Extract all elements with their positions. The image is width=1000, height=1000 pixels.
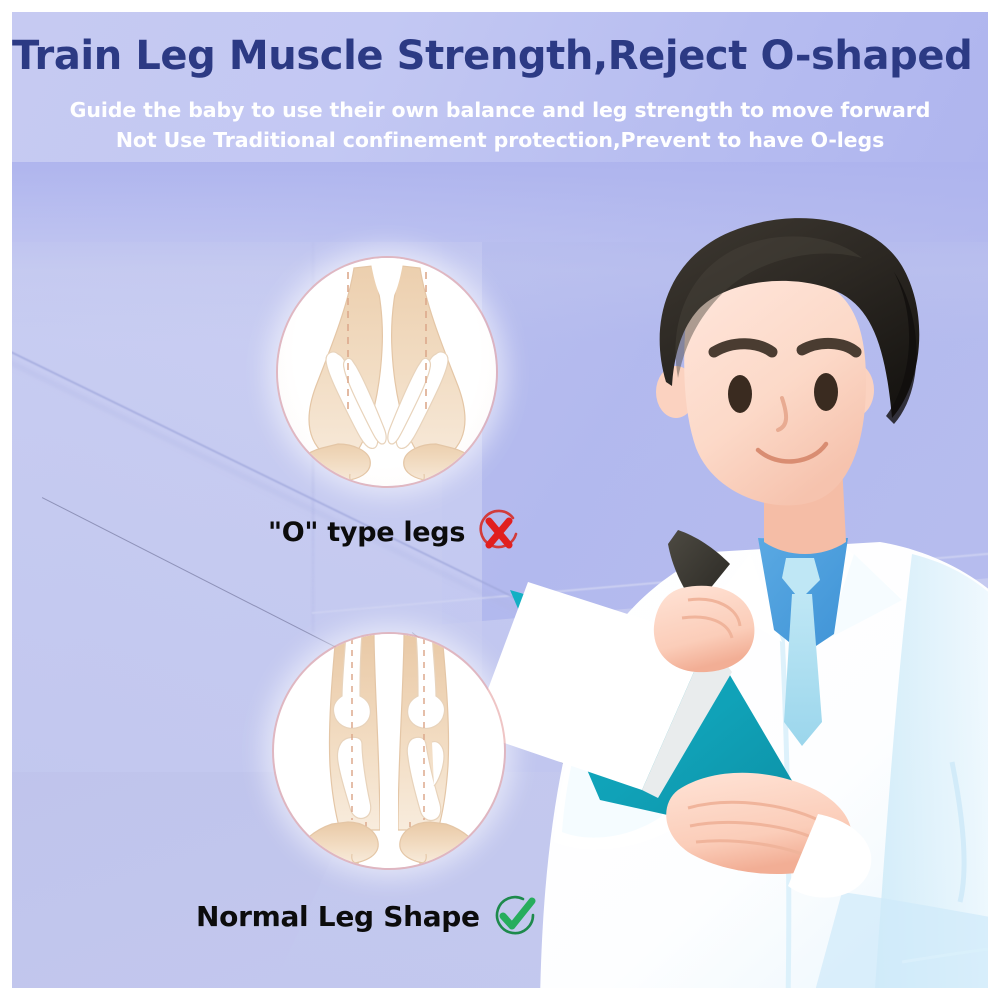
normal-caption-label: Normal Leg Shape <box>196 900 480 933</box>
comparison-card-o-type: "O" type legs <box>278 258 496 486</box>
o-type-legs-illustration <box>278 258 496 486</box>
page-title: Train Leg Muscle Strength,Reject O-shape… <box>12 34 988 78</box>
comparison-card-normal: Normal Leg Shape <box>274 634 504 868</box>
header: Train Leg Muscle Strength,Reject O-shape… <box>12 34 988 155</box>
normal-legs-illustration <box>274 634 504 868</box>
subtitle-line-2: Not Use Traditional confinement protecti… <box>12 126 988 156</box>
poster-canvas: Train Leg Muscle Strength,Reject O-shape… <box>12 12 988 988</box>
o-type-caption-label: "O" type legs <box>268 517 465 548</box>
check-mark-icon <box>490 892 538 940</box>
cross-mark-icon <box>475 508 523 556</box>
normal-caption: Normal Leg Shape <box>196 892 538 940</box>
subtitle-block: Guide the baby to use their own balance … <box>12 96 988 155</box>
doctor-head <box>656 218 919 554</box>
o-type-caption: "O" type legs <box>268 508 523 556</box>
subtitle-line-1: Guide the baby to use their own balance … <box>12 96 988 126</box>
doctor-illustration <box>482 202 988 988</box>
